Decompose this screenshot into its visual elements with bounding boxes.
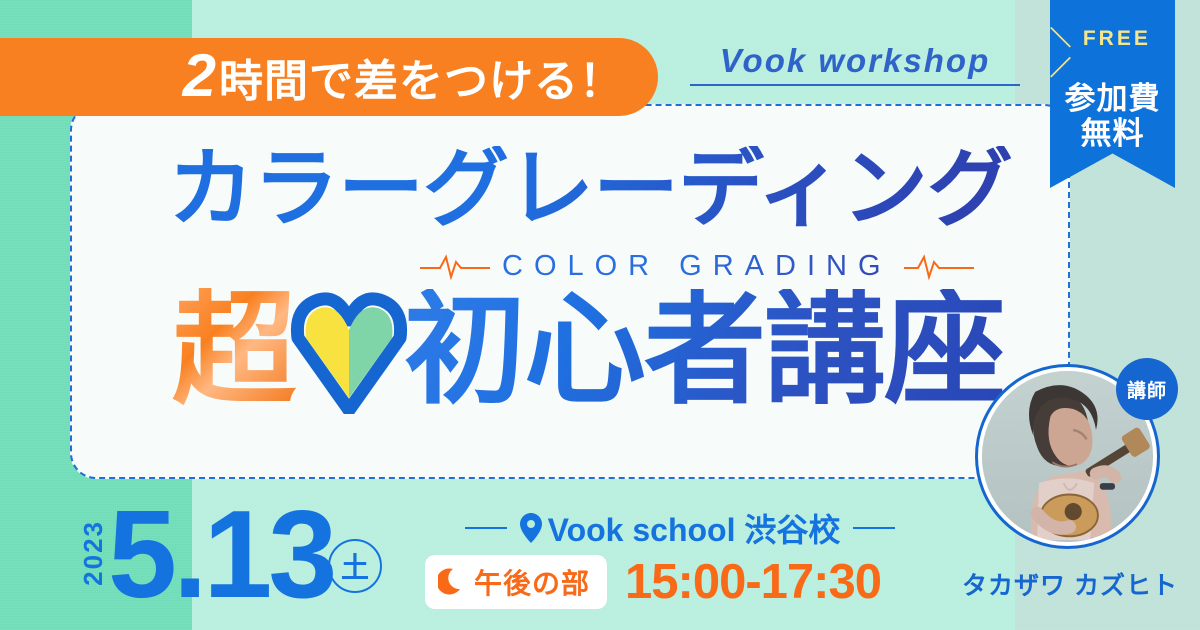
venue-row: Vook school 渋谷校 [420,505,940,551]
page-title: カラーグレーディング [168,146,1012,232]
ribbon-line-2: 無料 [1081,117,1145,152]
subtitle-en-row: COLOR GRADING [420,250,974,283]
tagline-number: 2 [183,42,217,109]
venue-text-group: Vook school 渋谷校 [520,505,841,551]
tagline-body: 時間で差をつける！ [219,57,624,106]
title-accent-word: 超 [172,288,296,412]
shoshinsha-mark-icon [290,286,408,414]
tagline-banner: 2時間で差をつける！ [0,38,658,116]
subtitle-en: COLOR GRADING [502,250,892,283]
venue-rule-left [465,527,507,529]
session-label: 午後の部 [474,562,590,602]
title-rest: 初心者講座 [404,289,1004,411]
waveform-right-icon [904,254,974,280]
event-date: 5.13 [108,493,333,617]
instructor-block: 講師 [975,364,1160,549]
title-line-2: 超 初心者講座 [172,286,1004,414]
event-day-of-week: 土 [328,539,382,593]
instructor-badge: 講師 [1116,358,1178,420]
moon-icon [438,567,465,597]
instructor-name: タカザワ カズヒト [950,566,1190,602]
event-hours: 15:00-17:30 [625,554,881,610]
ribbon-free-label: ＼ FREE ／ [1050,22,1175,82]
workshop-label-text: Vook workshop [720,42,990,79]
venue-rule-right [853,527,895,529]
tagline-text: 2時間で差をつける！ [183,45,624,109]
waveform-left-icon [420,254,490,280]
ribbon-line-1: 参加費 [1065,82,1161,117]
workshop-label: Vook workshop [690,42,1020,86]
session-chip: 午後の部 [425,555,607,609]
time-row: 午後の部 15:00-17:30 [425,554,881,610]
map-pin-icon [520,513,542,543]
event-poster: 2時間で差をつける！ Vook workshop ＼ FREE ／ 参加費 無料… [0,0,1200,630]
event-year: 2023 [78,520,109,586]
venue-name: Vook school 渋谷校 [548,505,841,551]
